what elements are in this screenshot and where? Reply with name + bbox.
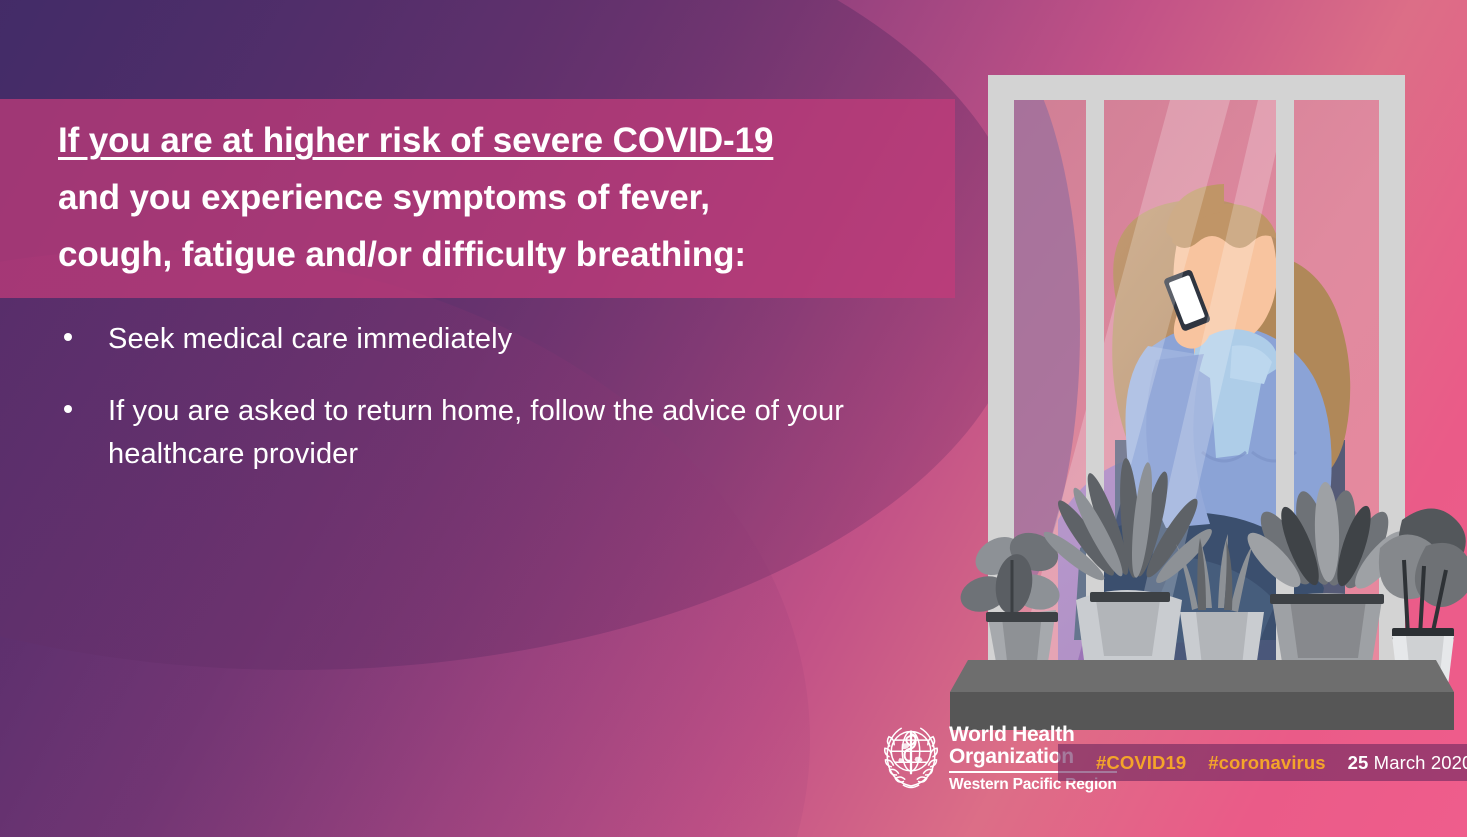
hashtag-date-bar: #COVID19 #coronavirus 25 March 2020: [1058, 744, 1467, 781]
headline-line-1: If you are at higher risk of severe COVI…: [58, 113, 773, 170]
date-day: 25: [1348, 752, 1369, 773]
list-item: Seek medical care immediately: [56, 318, 936, 362]
bullet-dot-icon: [64, 333, 72, 341]
publication-date: 25 March 2020: [1348, 752, 1467, 774]
date-month-year: March 2020: [1368, 752, 1467, 773]
headline-line-3: cough, fatigue and/or difficulty breathi…: [58, 227, 773, 284]
hashtag-coronavirus: #coronavirus: [1208, 752, 1325, 774]
headline-band: If you are at higher risk of severe COVI…: [0, 99, 955, 298]
potted-plants: [956, 458, 1467, 686]
list-item: If you are asked to return home, follow …: [56, 390, 936, 477]
page-title: If you are at higher risk of severe COVI…: [0, 113, 773, 283]
advice-list: Seek medical care immediately If you are…: [56, 318, 936, 505]
who-emblem-icon: [882, 721, 940, 793]
hashtag-covid19: #COVID19: [1096, 752, 1186, 774]
bullet-dot-icon: [64, 405, 72, 413]
poster-canvas: If you are at higher risk of severe COVI…: [0, 0, 1467, 837]
illustration-window-scene: [940, 0, 1467, 730]
headline-line-2: and you experience symptoms of fever,: [58, 170, 773, 227]
who-name-line-1: World Health: [949, 724, 1117, 745]
window-frame: [988, 75, 1405, 665]
list-item-label: If you are asked to return home, follow …: [108, 395, 844, 471]
list-item-label: Seek medical care immediately: [108, 323, 512, 355]
windowsill-ledge: [950, 660, 1454, 730]
